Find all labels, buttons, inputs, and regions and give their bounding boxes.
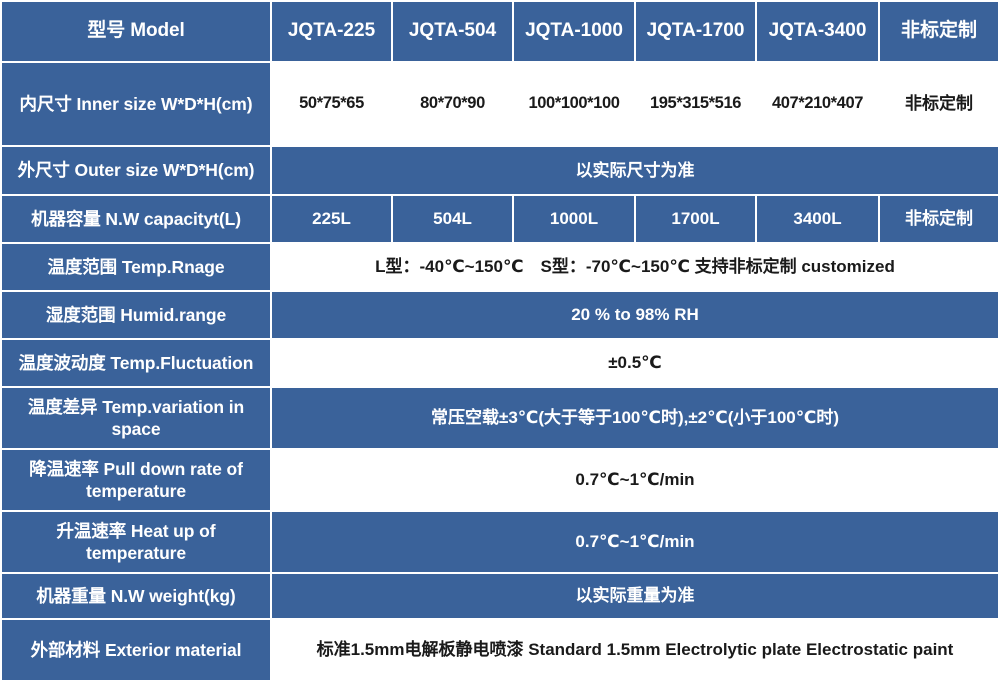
row-label-temp-fluctuation: 温度波动度 Temp.Fluctuation [0,340,272,388]
cell-capacity-1: 225L [272,196,393,244]
cell-capacity-5: 3400L [757,196,880,244]
cell-humid-range-value: 20 % to 98% RH [272,292,1000,340]
table-row-heat-up-rate: 升温速率 Heat up of temperature 0.7℃~1℃/min [0,512,1000,574]
header-custom: 非标定制 [880,0,1000,63]
cell-outer-size-value: 以实际尺寸为准 [272,147,1000,196]
header-label-model: 型号 Model [0,0,272,63]
table-row-temp-range: 温度范围 Temp.Rnage L型：-40℃~150℃ S型：-70℃~150… [0,244,1000,292]
table-row-outer-size: 外尺寸 Outer size W*D*H(cm) 以实际尺寸为准 [0,147,1000,196]
header-model-1: JQTA-225 [272,0,393,63]
header-model-2: JQTA-504 [393,0,514,63]
cell-capacity-3: 1000L [514,196,636,244]
table-row-exterior-material: 外部材料 Exterior material 标准1.5mm电解板静电喷漆 St… [0,620,1000,682]
cell-capacity-custom: 非标定制 [880,196,1000,244]
cell-inner-size-3: 100*100*100 [514,63,636,147]
cell-capacity-2: 504L [393,196,514,244]
row-label-temp-variation: 温度差异 Temp.variation in space [0,388,272,450]
cell-weight-value: 以实际重量为准 [272,574,1000,620]
table-row-temp-fluctuation: 温度波动度 Temp.Fluctuation ±0.5℃ [0,340,1000,388]
cell-temp-range-value: L型：-40℃~150℃ S型：-70℃~150℃ 支持非标定制 customi… [272,244,1000,292]
row-label-heat-up-rate: 升温速率 Heat up of temperature [0,512,272,574]
table-row-pull-down-rate: 降温速率 Pull down rate of temperature 0.7℃~… [0,450,1000,512]
cell-pull-down-rate-value: 0.7℃~1℃/min [272,450,1000,512]
row-label-exterior-material: 外部材料 Exterior material [0,620,272,682]
row-label-capacity: 机器容量 N.W capacityt(L) [0,196,272,244]
cell-inner-size-2: 80*70*90 [393,63,514,147]
header-model-5: JQTA-3400 [757,0,880,63]
row-label-outer-size: 外尺寸 Outer size W*D*H(cm) [0,147,272,196]
table-row-inner-size: 内尺寸 Inner size W*D*H(cm) 50*75*65 80*70*… [0,63,1000,147]
row-label-weight: 机器重量 N.W weight(kg) [0,574,272,620]
table-header-row: 型号 Model JQTA-225 JQTA-504 JQTA-1000 JQT… [0,0,1000,63]
table-row-humid-range: 湿度范围 Humid.range 20 % to 98% RH [0,292,1000,340]
cell-temp-variation-value: 常压空载±3℃(大于等于100℃时),±2℃(小于100℃时) [272,388,1000,450]
row-label-inner-size: 内尺寸 Inner size W*D*H(cm) [0,63,272,147]
table-row-weight: 机器重量 N.W weight(kg) 以实际重量为准 [0,574,1000,620]
spec-table-body: 型号 Model JQTA-225 JQTA-504 JQTA-1000 JQT… [0,0,1000,682]
row-label-pull-down-rate: 降温速率 Pull down rate of temperature [0,450,272,512]
table-row-capacity: 机器容量 N.W capacityt(L) 225L 504L 1000L 17… [0,196,1000,244]
table-row-temp-variation: 温度差异 Temp.variation in space 常压空载±3℃(大于等… [0,388,1000,450]
cell-inner-size-1: 50*75*65 [272,63,393,147]
cell-capacity-4: 1700L [636,196,757,244]
cell-inner-size-4: 195*315*516 [636,63,757,147]
row-label-temp-range: 温度范围 Temp.Rnage [0,244,272,292]
cell-heat-up-rate-value: 0.7℃~1℃/min [272,512,1000,574]
cell-inner-size-5: 407*210*407 [757,63,880,147]
row-label-humid-range: 湿度范围 Humid.range [0,292,272,340]
header-model-3: JQTA-1000 [514,0,636,63]
specification-table: 型号 Model JQTA-225 JQTA-504 JQTA-1000 JQT… [0,0,1000,682]
cell-temp-fluctuation-value: ±0.5℃ [272,340,1000,388]
cell-exterior-material-value: 标准1.5mm电解板静电喷漆 Standard 1.5mm Electrolyt… [272,620,1000,682]
cell-inner-size-custom: 非标定制 [880,63,1000,147]
header-model-4: JQTA-1700 [636,0,757,63]
